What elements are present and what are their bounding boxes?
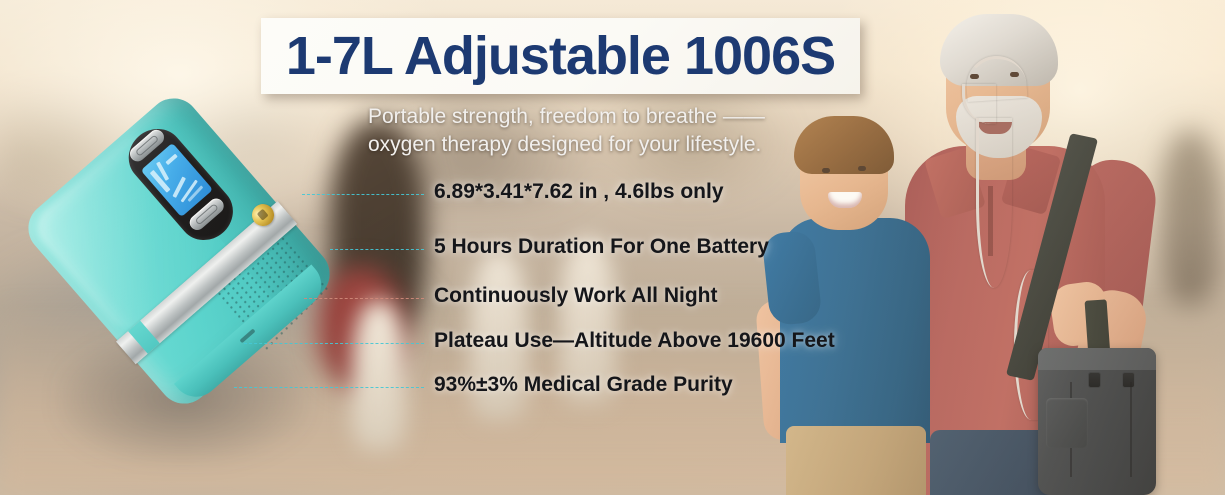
page-title: 1-7L Adjustable 1006S <box>261 18 860 94</box>
feature-label-5: 93%±3% Medical Grade Purity <box>434 373 733 397</box>
oxygen-concentrator-device <box>18 84 338 434</box>
feature-connector-4 <box>244 343 424 344</box>
bag-seam-right <box>1130 382 1132 477</box>
bag-clip-left <box>1088 372 1101 388</box>
feature-label-3: Continuously Work All Night <box>434 284 717 308</box>
feature-label-1: 6.89*3.41*7.62 in , 4.6lbs only <box>434 180 724 204</box>
subtitle-line-2: oxygen therapy designed for your lifesty… <box>368 131 888 159</box>
subtitle: Portable strength, freedom to breathe ——… <box>368 103 888 159</box>
boy-eye-right <box>858 166 866 171</box>
boy-eye-left <box>822 168 830 173</box>
carry-bag-lid <box>1038 348 1156 370</box>
subtitle-line-1: Portable strength, freedom to breathe —— <box>368 103 888 131</box>
feature-label-2: 5 Hours Duration For One Battery <box>434 235 769 259</box>
feature-connector-5 <box>234 387 424 388</box>
feature-label-4: Plateau Use—Altitude Above 19600 Feet <box>434 329 835 353</box>
feature-connector-1 <box>302 194 424 195</box>
background-post-1 <box>352 300 406 450</box>
product-hero-banner: 1-7L Adjustable 1006S Portable strength,… <box>0 0 1225 495</box>
nasal-cannula-tube-chest <box>976 118 1012 288</box>
feature-connector-2 <box>330 249 424 250</box>
feature-connector-3 <box>304 298 424 299</box>
boy-sleeve <box>761 230 822 327</box>
boy-shorts <box>786 426 926 495</box>
title-card: 1-7L Adjustable 1006S <box>261 18 860 94</box>
bag-clip-right <box>1122 372 1135 388</box>
bag-side-pocket <box>1046 398 1088 448</box>
